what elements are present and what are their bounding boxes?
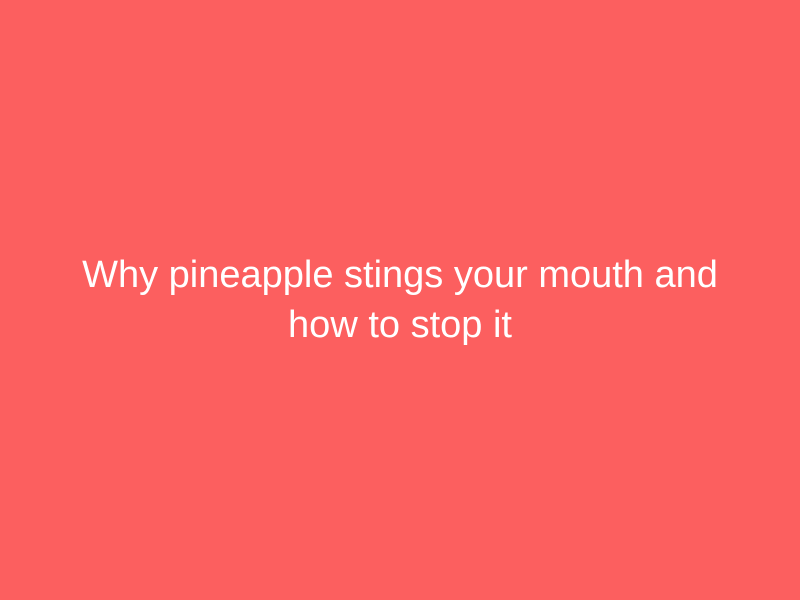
title-card: Why pineapple stings your mouth and how … [0, 0, 800, 600]
headline-block: Why pineapple stings your mouth and how … [50, 250, 750, 350]
page-title: Why pineapple stings your mouth and how … [50, 250, 750, 350]
